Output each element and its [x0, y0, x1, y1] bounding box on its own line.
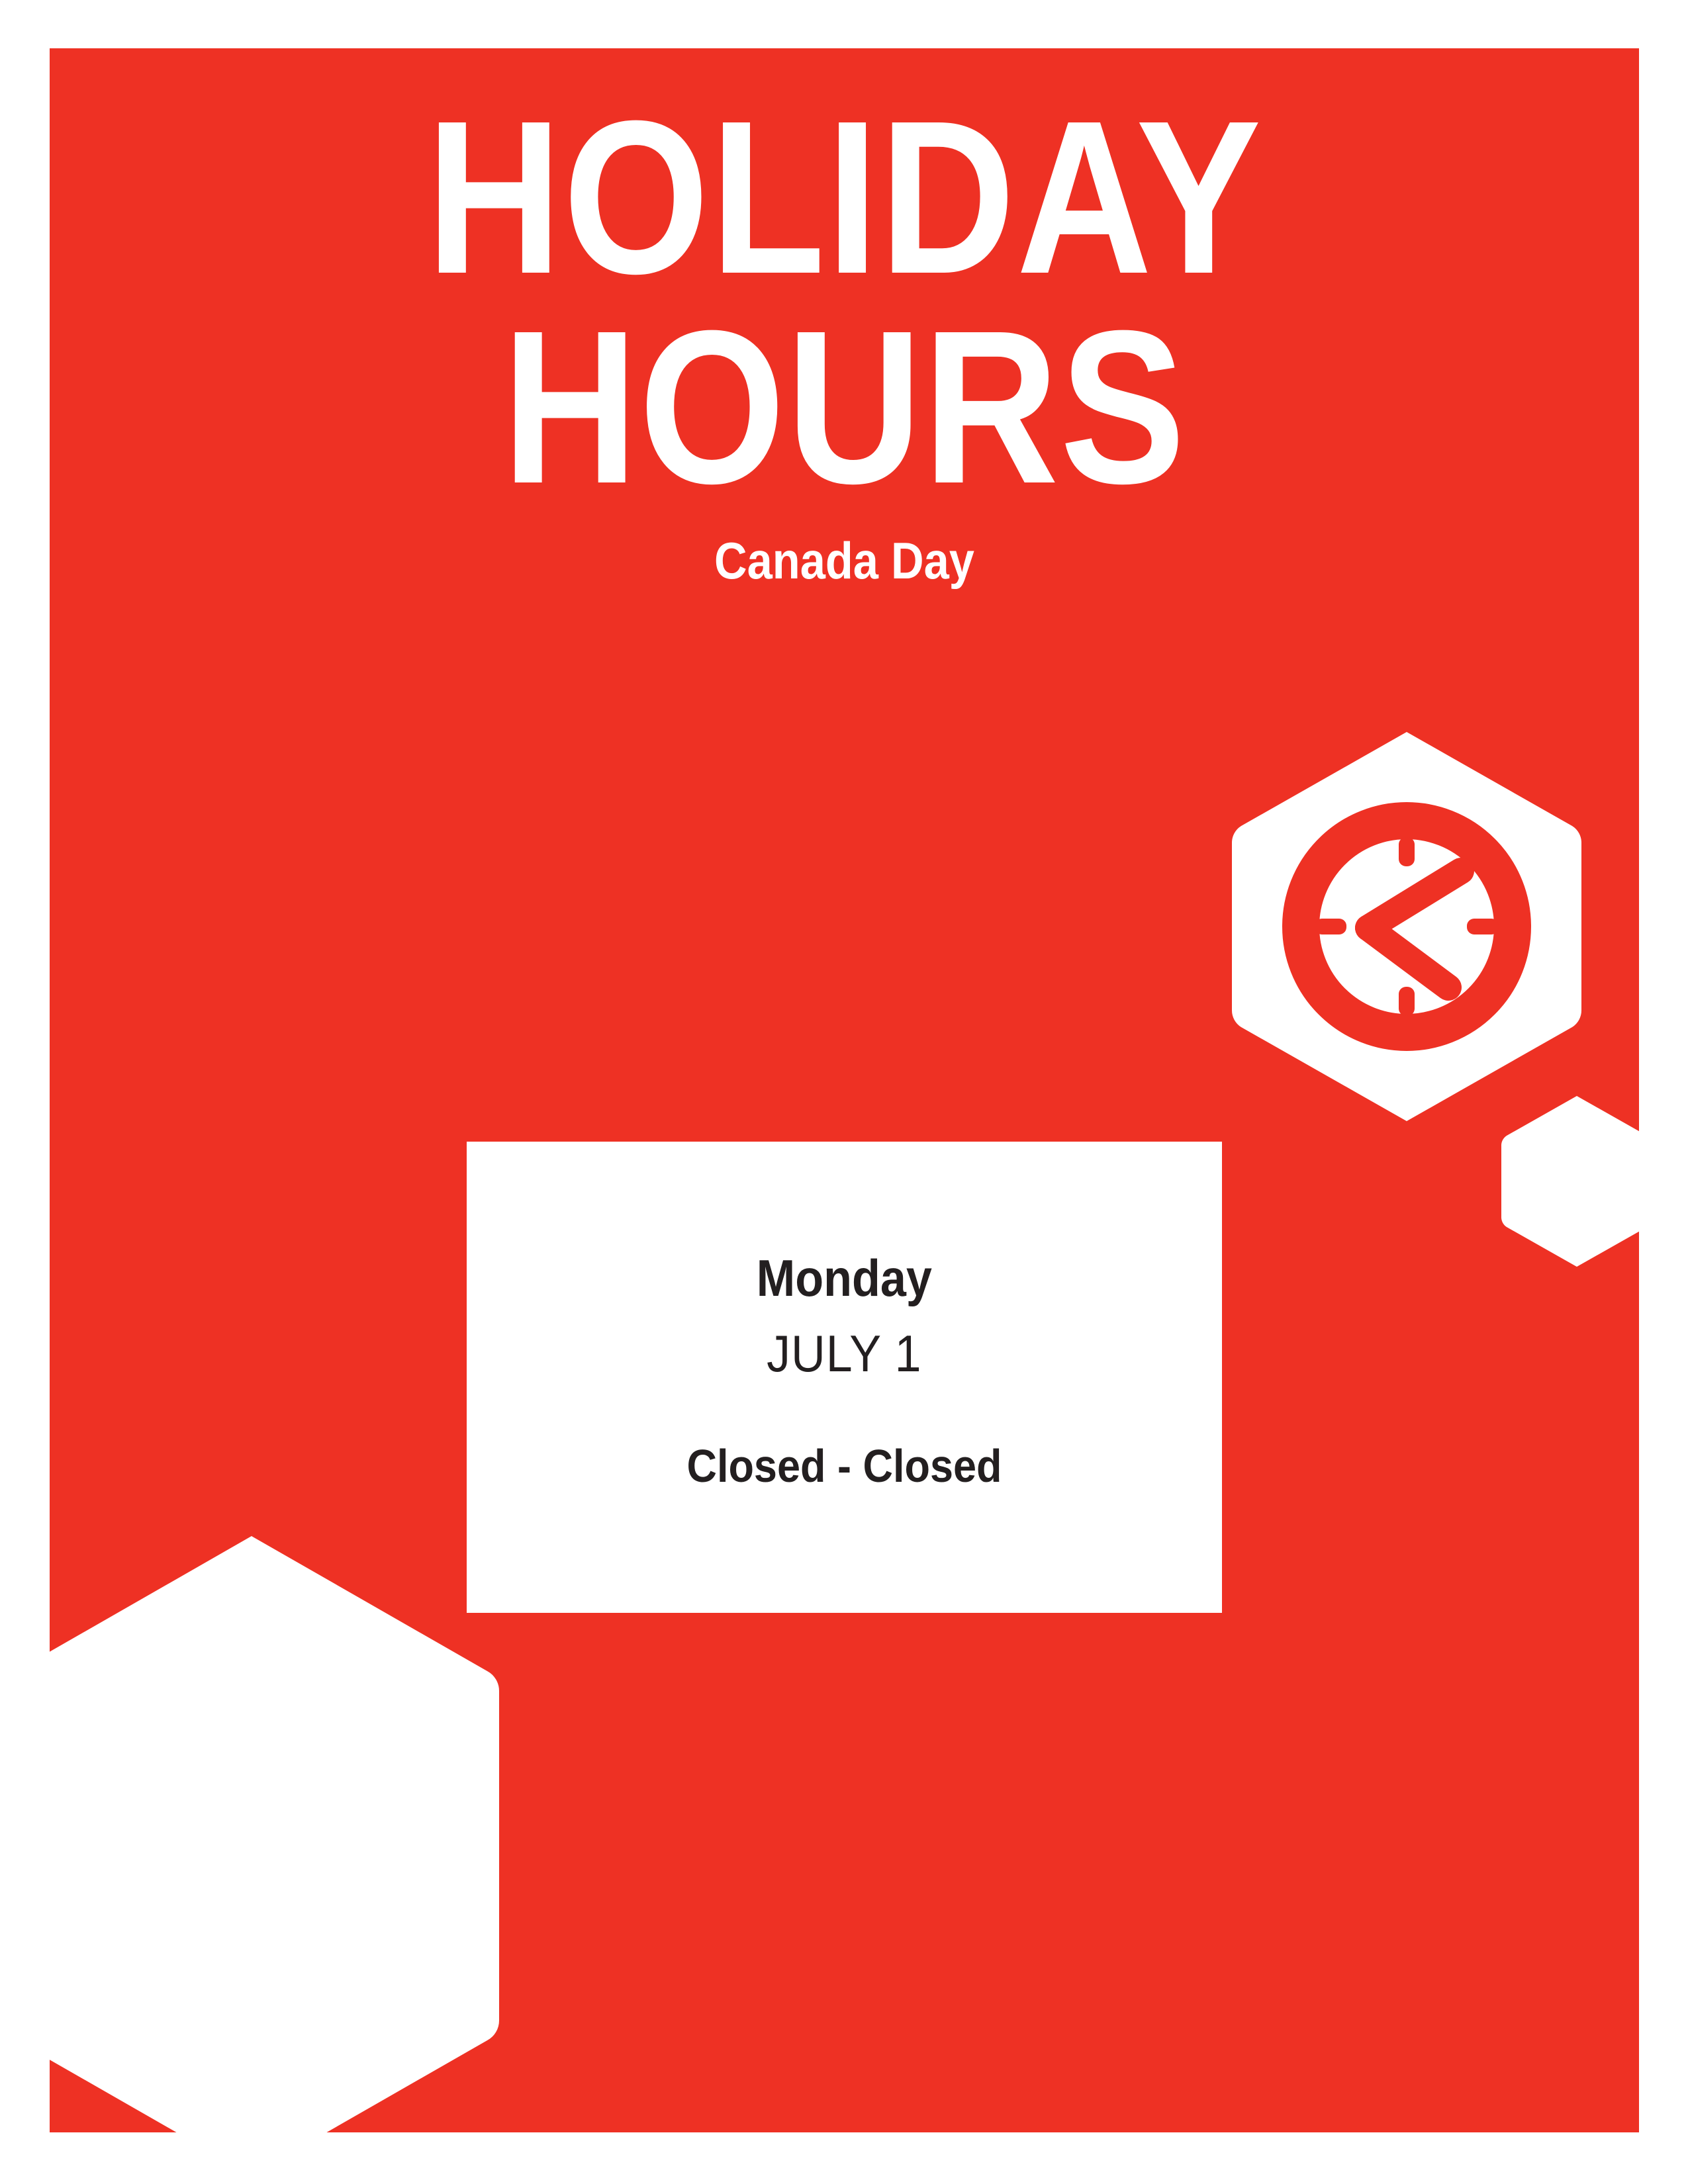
card-hours-value: Closed - Closed	[686, 1443, 1002, 1489]
hours-info-card: Monday JULY 1 Closed - Closed	[467, 1142, 1222, 1613]
clock-hexagon-icon	[1228, 728, 1585, 1125]
card-date-label: JULY 1	[767, 1328, 921, 1379]
holiday-hours-poster: HOLIDAY HOURS Canada Day	[0, 0, 1688, 2184]
hexagon-accent-icon-right	[1497, 1093, 1656, 1269]
card-day-label: Monday	[757, 1252, 932, 1304]
